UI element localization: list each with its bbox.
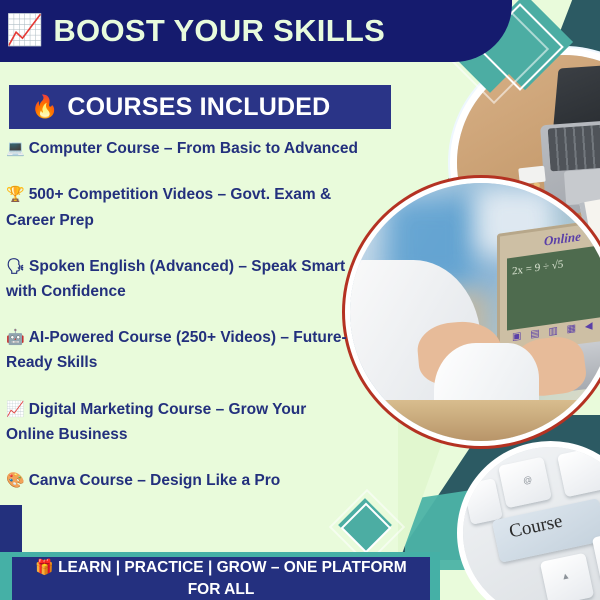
gift-icon: 🎁 [35,559,54,576]
list-item: 🎨Canva Course – Design Like a Pro [6,468,358,493]
page-title: BOOST YOUR SKILLS [53,13,385,49]
courses-included-banner: 🔥 COURSES INCLUDED [9,85,391,129]
list-item: 🏆500+ Competition Videos – Govt. Exam & … [6,182,358,232]
list-item-label: Canva Course – Design Like a Pro [29,472,281,489]
trophy-icon: 🏆 [6,186,25,203]
robot-icon: 🤖 [6,329,25,346]
list-item: 🗣Spoken English (Advanced) – Speak Smart… [6,254,358,304]
list-item-label: 500+ Competition Videos – Govt. Exam & C… [6,186,331,228]
poster-canvas: Online 2x = 9 ÷ √5 ▣ ▤ ▥ ▦ ◀ ⌕ @ ▲ Cours… [0,0,600,600]
list-item-label: AI-Powered Course (250+ Videos) – Future… [6,329,347,371]
photo-person-typing: Online 2x = 9 ÷ √5 ▣ ▤ ▥ ▦ ◀ ⌕ [345,178,600,446]
speaking-head-icon: 🗣 [6,258,25,275]
chart-increasing-icon: 📈 [6,16,43,46]
desk-surface [350,400,600,441]
list-item: 💻Computer Course – From Basic to Advance… [6,136,358,161]
list-item: 🤖AI-Powered Course (250+ Videos) – Futur… [6,325,358,375]
fire-icon: 🔥 [31,96,58,118]
list-item: 📈Digital Marketing Course – Grow Your On… [6,397,358,447]
footer-banner: 🎁LEARN | PRACTICE | GROW – ONE PLATFORM … [12,557,430,600]
list-item-label: Spoken English (Advanced) – Speak Smart … [6,258,345,300]
eraser-icon [519,165,547,184]
laptop-icon: 💻 [6,140,25,157]
photo-person-typing-inner: Online 2x = 9 ÷ √5 ▣ ▤ ▥ ▦ ◀ ⌕ [350,183,600,441]
list-item-label: Digital Marketing Course – Grow Your Onl… [6,401,306,443]
courses-included-title: COURSES INCLUDED [67,93,330,122]
footer-text-wrap: 🎁LEARN | PRACTICE | GROW – ONE PLATFORM … [22,557,420,600]
chart-increasing-icon: 📈 [6,401,25,418]
header-banner: 📈 BOOST YOUR SKILLS [0,0,512,62]
course-list: 💻Computer Course – From Basic to Advance… [6,136,358,493]
arrow-up-icon: ▲ [560,570,571,582]
photo-keyboard-course-inner: @ ▲ Course [463,447,600,600]
at-sign-icon: @ [522,474,533,486]
footer-tagline: LEARN | PRACTICE | GROW – ONE PLATFORM F… [58,559,407,598]
photo-keyboard-course: @ ▲ Course [457,441,600,600]
laptop-keyboard [548,119,600,171]
artist-palette-icon: 🎨 [6,472,25,489]
list-item-label: Computer Course – From Basic to Advanced [29,140,358,157]
keyboard-key [557,447,600,498]
diamond-decoration-bottom [340,500,400,560]
